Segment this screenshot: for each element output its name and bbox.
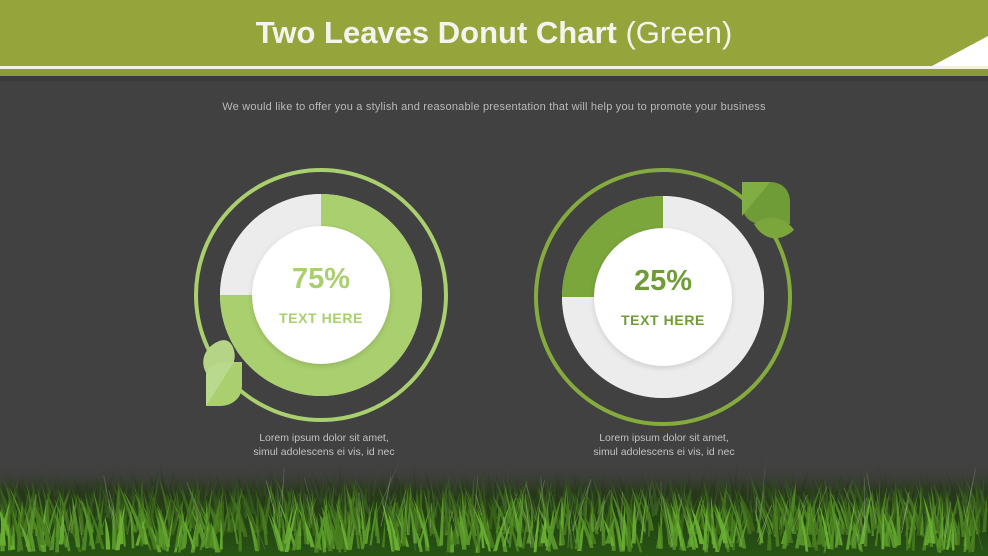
- donut-percent-left: 75%: [292, 265, 350, 294]
- slide: Two Leaves Donut Chart (Green) We would …: [0, 0, 988, 556]
- donut-chart-right[interactable]: 25% TEXT HERE: [534, 168, 794, 428]
- donut-percent-right: 25%: [634, 267, 692, 296]
- subtitle: We would like to offer you a stylish and…: [0, 101, 988, 113]
- page-title-suffix: (Green): [625, 15, 732, 50]
- page-title-main: Two Leaves Donut Chart: [256, 15, 626, 50]
- caption-right-line-1: Lorem ipsum dolor sit amet,: [534, 431, 794, 445]
- donut-center-left: 75% TEXT HERE: [252, 226, 390, 364]
- donut-center-right: 25% TEXT HERE: [594, 228, 732, 366]
- leaf-icon-right: [734, 178, 804, 254]
- donut-chart-left[interactable]: 75% TEXT HERE: [194, 168, 454, 428]
- header-shadow: [0, 76, 988, 81]
- header-under-band: [0, 69, 988, 76]
- grass-blades: [0, 456, 988, 556]
- leaf-icon-left: [192, 336, 262, 412]
- donut-text-label-left: TEXT HERE: [279, 311, 363, 325]
- caption-left-line-1: Lorem ipsum dolor sit amet,: [194, 431, 454, 445]
- page-title: Two Leaves Donut Chart (Green): [0, 0, 988, 66]
- grass-footer: [0, 456, 988, 556]
- donut-text-label-right: TEXT HERE: [621, 313, 705, 327]
